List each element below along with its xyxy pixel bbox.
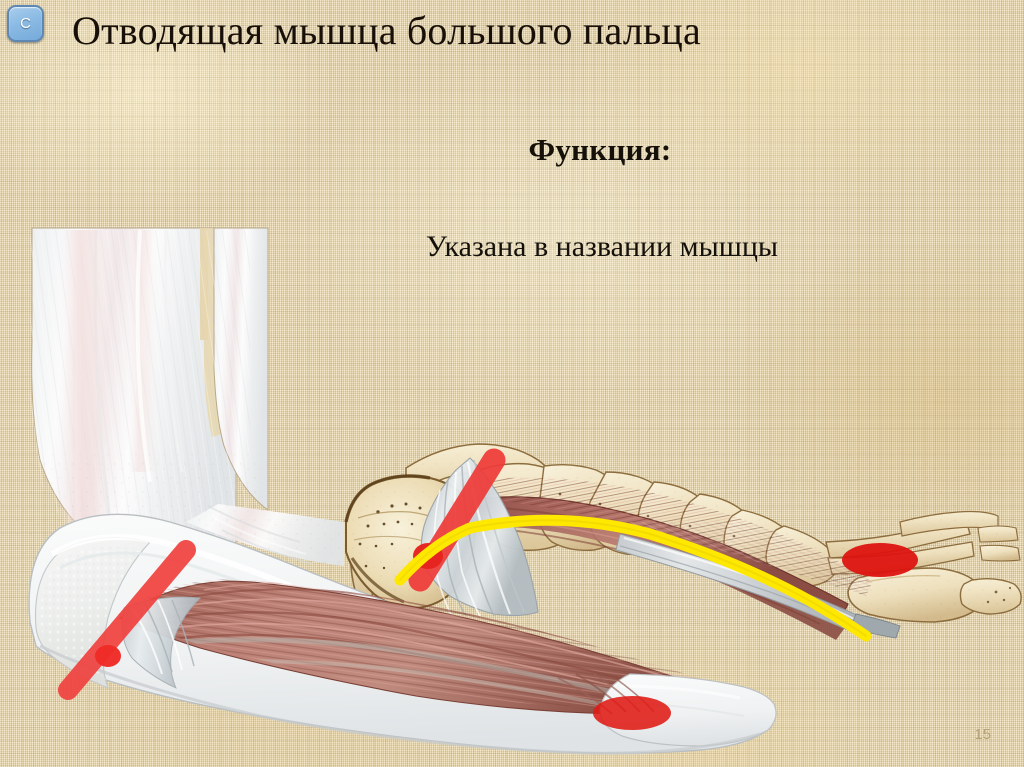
slide-page-number: 15 bbox=[974, 726, 991, 743]
abductor-hallucis-foot-anatomy-illustration bbox=[0, 222, 1024, 767]
plantar-insertion-marker bbox=[593, 696, 671, 730]
copy-key-icon-label: C bbox=[20, 15, 31, 32]
copy-key-icon[interactable]: C bbox=[7, 5, 44, 42]
heel-origin-dot bbox=[95, 645, 121, 667]
presentation-slide: C Отводящая мышца большого пальца Функци… bbox=[0, 0, 1024, 767]
hallux-insertion-marker bbox=[842, 543, 918, 577]
page-title: Отводящая мышца большого пальца bbox=[72, 8, 972, 54]
function-heading: Функция: bbox=[88, 132, 1024, 168]
